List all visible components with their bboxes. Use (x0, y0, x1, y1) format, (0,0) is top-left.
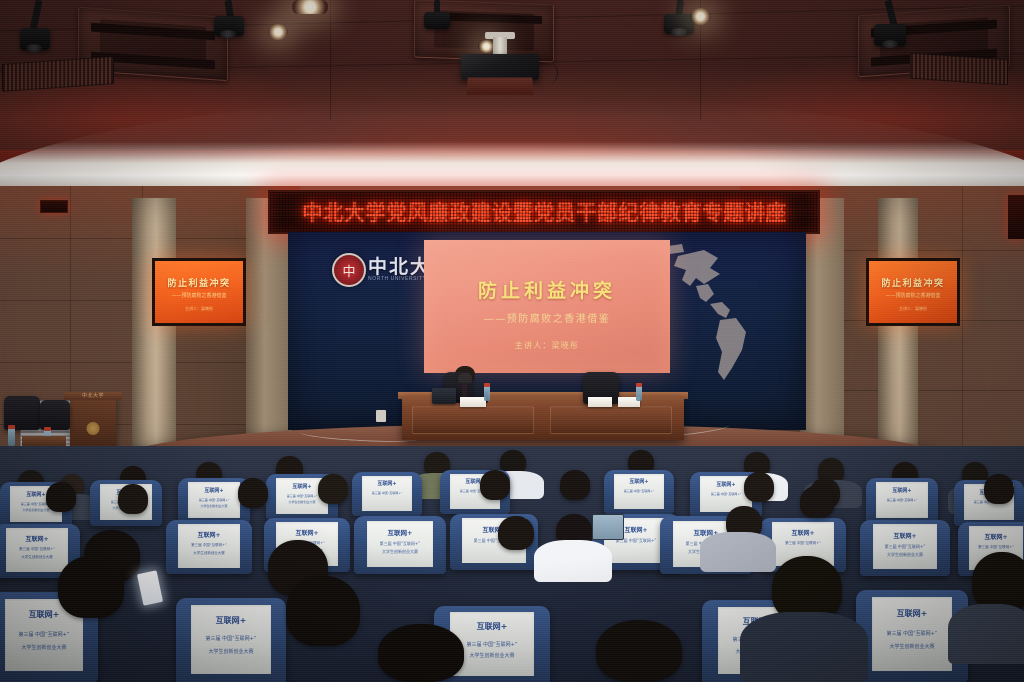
slide-title: 防止利益冲突 (424, 276, 670, 303)
seat-cover-line1: 第三届 中国“互联网+” (873, 544, 938, 550)
slide-subtitle: ——预防腐败之香港借鉴 (424, 310, 670, 325)
seat-cover-line1: 第三届 中国“互联网+” (969, 545, 1024, 550)
attendee-head (286, 576, 360, 646)
ceiling-projector (455, 32, 551, 94)
seat-cover-logo: 互联网+ (367, 527, 433, 537)
side-monitor-right: 防止利益冲突 ——预防腐败之香港借鉴 主讲人：梁晓彤 (866, 258, 960, 326)
seat-cover-line2: 大学生创新创业大赛 (276, 500, 328, 504)
ceiling-downlight (292, 0, 328, 14)
nameplate (460, 397, 486, 407)
attendee-head (984, 474, 1014, 504)
seat-cover: 互联网+ 第三届 中国“互联网+” 大学生创新创业大赛 (188, 482, 240, 519)
attendee-head (800, 486, 834, 518)
attendee-head (46, 482, 76, 512)
seat-cover-logo: 互联网+ (178, 530, 240, 539)
attendee-head (480, 470, 510, 500)
seat-cover: 互联网+ 第三届 中国“互联网+” (876, 482, 928, 519)
seat-cover-logo: 互联网+ (276, 528, 338, 537)
tablet-device[interactable] (592, 514, 624, 540)
side-monitor-left-presenter: 主讲人：梁晓彤 (155, 306, 243, 312)
seat[interactable]: 互联网+ 第三届 中国“互联网+” (352, 472, 422, 516)
university-seal-icon: 中 (332, 253, 366, 287)
bottle-cap (636, 383, 642, 387)
seat-cover-line1: 第三届 中国“互联网+” (178, 543, 240, 548)
seat-cover-line1: 第三届 中国“互联网+” (614, 489, 664, 493)
side-monitor-left-subtitle: ——预防腐败之香港借鉴 (155, 292, 243, 299)
seat[interactable]: 互联网+ 第三届 中国“互联网+” 大学生创新创业大赛 (354, 516, 446, 574)
seat-cover-logo: 互联网+ (191, 615, 270, 626)
side-monitor-right-presenter: 主讲人：梁晓彤 (869, 306, 957, 312)
exit-sign-icon (1008, 195, 1024, 239)
exit-sign-icon (40, 200, 68, 213)
attendee-head (498, 516, 534, 550)
seat-cover-logo: 互联网+ (450, 621, 534, 632)
seat-cover-logo: 互联网+ (872, 608, 953, 619)
seat-cover-line1: 第三届 中国“互联网+” (876, 498, 928, 502)
seat-cover-line1: 第三届 中国“互联网+” (188, 498, 240, 502)
seat-cover-logo: 互联网+ (969, 532, 1024, 541)
seat[interactable]: 互联网+ 第三届 中国“互联网+” 大学生创新创业大赛 (176, 598, 286, 682)
attendee-head (318, 474, 348, 504)
seat[interactable]: 互联网+ 第三届 中国“互联网+” (604, 470, 674, 514)
led-banner: 中北大学党风廉政建设暨党员干部纪律教育专题讲座 (268, 190, 820, 234)
seat-cover: 互联网+ 第三届 中国“互联网+” 大学生创新创业大赛 (873, 524, 938, 569)
bottle-cap (484, 383, 490, 387)
seat[interactable]: 互联网+ 第三届 中国“互联网+” 大学生创新创业大赛 (166, 520, 252, 574)
seat-cover: 互联网+ 第三届 中国“互联网+” 大学生创新创业大赛 (6, 528, 68, 571)
attendee-head (118, 484, 148, 514)
seat[interactable]: 互联网+ 第三届 中国“互联网+” (866, 478, 938, 524)
seat-cover-line2: 大学生创新创业大赛 (6, 555, 68, 560)
seat-cover-line1: 第三届 中国“互联网+” (772, 541, 834, 546)
seat-cover-logo: 互联网+ (362, 480, 412, 487)
ceiling-downlight (690, 8, 711, 25)
seat-cover: 互联网+ 第三届 中国“互联网+” 大学生创新创业大赛 (178, 524, 240, 567)
attendee-shoulders (700, 532, 776, 572)
bottle-cap (44, 427, 51, 431)
attendee-head (972, 552, 1024, 612)
water-bottle (484, 386, 490, 401)
attendee-shoulders (948, 604, 1024, 664)
seat-cover-line2: 大学生创新创业大赛 (873, 552, 938, 558)
side-monitor-left: 防止利益冲突 ——预防腐败之香港借鉴 主讲人：梁晓彤 (152, 258, 246, 326)
seat-cover-line1: 第三届 中国“互联网+” (367, 541, 433, 547)
seat-cover: 互联网+ 第三届 中国“互联网+” (362, 476, 412, 511)
seat-cover-line1: 第三届 中国“互联网+” (191, 635, 270, 642)
attendee-shoulders (534, 540, 612, 582)
seat-cover-logo: 互联网+ (6, 534, 68, 543)
seat-cover-logo: 互联网+ (873, 531, 938, 540)
projector-cable (539, 62, 558, 84)
attendee-head (744, 472, 774, 502)
projection-screen: 防止利益冲突 ——预防腐败之香港借鉴 主讲人：梁晓彤 (424, 240, 670, 373)
lectern-text: 中北大学 (64, 392, 122, 399)
seat-cover-line2: 大学生创新创业大赛 (191, 648, 270, 655)
seat[interactable]: 互联网+ 第三届 中国“互联网+” 大学生创新创业大赛 (860, 520, 950, 576)
lectern-top: 中北大学 (64, 392, 122, 400)
water-bottle (8, 428, 15, 446)
seat-cover-line2: 大学生创新创业大赛 (178, 551, 240, 556)
seat-cover-logo: 互联网+ (614, 478, 664, 485)
seat-cover: 互联网+ 第三届 中国“互联网+” (614, 474, 664, 509)
lecture-hall-photo: 中北大学党风廉政建设暨党员干部纪律教育专题讲座 中 中北大学 NORTH UNI… (0, 0, 1024, 682)
seat-cover-line1: 第三届 中国“互联网+” (6, 547, 68, 552)
seat-cover: 互联网+ 第三届 中国“互联网+” 大学生创新创业大赛 (191, 605, 270, 674)
seat-cover-line1: 第三届 中国“互联网+” (5, 631, 83, 638)
seat-cover-line2: 大学生创新创业大赛 (5, 644, 83, 651)
water-bottle (636, 386, 642, 401)
attendee-shoulders (740, 612, 868, 682)
lectern-emblem-icon (87, 422, 100, 435)
attendee-head (596, 620, 682, 682)
attendee-head (238, 478, 268, 508)
seat-cover-line2: 大学生创新创业大赛 (872, 643, 953, 650)
attendee-head (560, 470, 590, 500)
world-map-graphic (660, 240, 810, 390)
attendee-head (58, 556, 124, 618)
seat-cover: 互联网+ 第三届 中国“互联网+” 大学生创新创业大赛 (367, 521, 433, 567)
attendee-head (378, 624, 464, 682)
laptop (432, 388, 456, 404)
slide-presenter: 主讲人：梁晓彤 (424, 340, 670, 351)
seat-cover-logo: 互联网+ (876, 487, 928, 494)
side-monitor-left-title: 防止利益冲突 (155, 276, 243, 289)
seat-cover-line2: 大学生创新创业大赛 (367, 549, 433, 555)
side-monitor-right-title: 防止利益冲突 (869, 276, 957, 289)
seat-cover: 互联网+ 第三届 中国“互联网+” 大学生创新创业大赛 (872, 597, 953, 671)
side-monitor-right-subtitle: ——预防腐败之香港借鉴 (869, 292, 957, 299)
ceiling-downlight (268, 24, 288, 40)
nameplate (588, 397, 612, 407)
led-banner-text: 中北大学党风廉政建设暨党员干部纪律教育专题讲座 (302, 197, 787, 227)
world-map-svg (660, 240, 810, 390)
bottle-cap (8, 425, 15, 429)
seat-cover-line2: 大学生创新创业大赛 (188, 504, 240, 508)
wall-column (246, 198, 292, 448)
seat-cover-logo: 互联网+ (772, 528, 834, 537)
seat-cover-logo: 互联网+ (188, 487, 240, 494)
side-chair (40, 400, 70, 430)
seal-glyph: 中 (334, 255, 364, 285)
seat-cover-line1: 第三届 中国“互联网+” (362, 491, 412, 495)
floor-mic-stand (376, 410, 386, 422)
seat-cover-line1: 第三届 中国“互联网+” (872, 630, 953, 637)
